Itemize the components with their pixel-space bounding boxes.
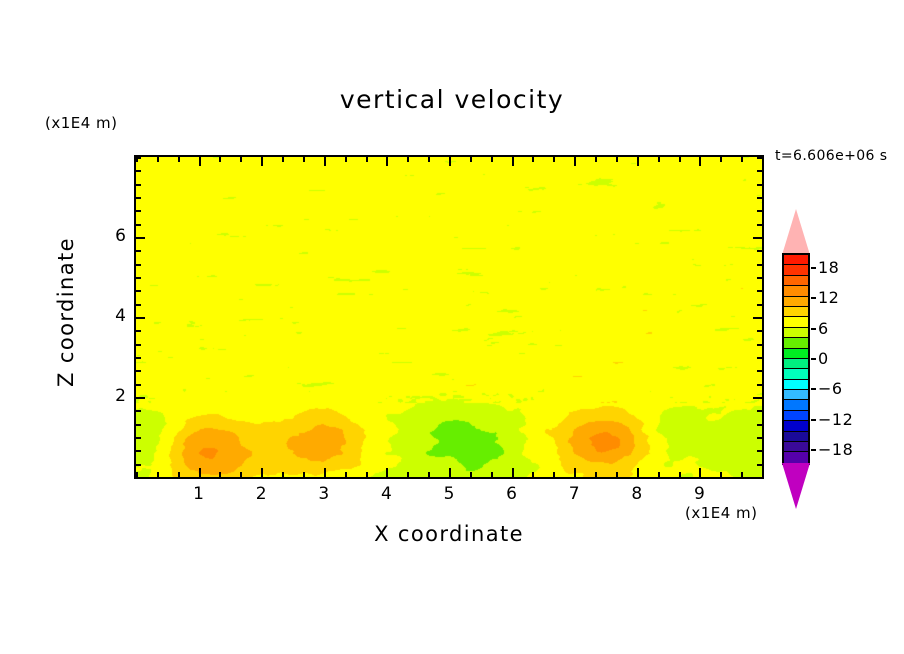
x-minor-tick-top [553, 157, 555, 162]
colorbar-band [784, 421, 808, 431]
x-major-tick-top [386, 157, 388, 166]
colorbar-band [784, 349, 808, 359]
colorbar-band [784, 255, 808, 265]
x-minor-tick [407, 472, 409, 477]
x-minor-tick [658, 472, 660, 477]
y-minor-tick-right [757, 384, 762, 386]
y-minor-tick [136, 424, 141, 426]
x-minor-tick-top [616, 157, 618, 162]
y-major-tick [136, 397, 145, 399]
y-minor-tick-right [757, 344, 762, 346]
x-minor-tick-top [762, 157, 764, 162]
y-minor-tick-right [757, 437, 762, 439]
y-minor-tick-right [757, 264, 762, 266]
colorbar[interactable] [782, 253, 810, 465]
x-minor-tick [428, 472, 430, 477]
colorbar-band [784, 338, 808, 348]
x-tick-label: 1 [179, 484, 219, 504]
colorbar-band [784, 265, 808, 275]
y-major-tick-right [753, 317, 762, 319]
x-major-tick [574, 468, 576, 477]
x-minor-tick-top [595, 157, 597, 162]
y-minor-tick-right [757, 357, 762, 359]
colorbar-band [784, 317, 808, 327]
colorbar-band [784, 328, 808, 338]
y-minor-tick [136, 357, 141, 359]
colorbar-band [784, 400, 808, 410]
page-title: vertical velocity [0, 85, 904, 114]
x-major-tick-top [512, 157, 514, 166]
x-minor-tick-top [303, 157, 305, 162]
x-major-tick-top [324, 157, 326, 166]
x-minor-tick-top [470, 157, 472, 162]
colorbar-tick-label: −12 [818, 410, 853, 429]
x-minor-tick-top [720, 157, 722, 162]
colorbar-band [784, 297, 808, 307]
y-minor-tick-right [757, 210, 762, 212]
x-tick-label: 6 [492, 484, 532, 504]
y-major-tick-right [753, 397, 762, 399]
y-tick-label: 6 [100, 226, 126, 246]
x-minor-tick [595, 472, 597, 477]
x-minor-tick [219, 472, 221, 477]
y-minor-tick [136, 277, 141, 279]
x-minor-tick-top [157, 157, 159, 162]
contour-plot-area[interactable] [134, 155, 764, 479]
x-minor-tick [553, 472, 555, 477]
y-minor-tick-right [757, 250, 762, 252]
x-tick-label: 7 [554, 484, 594, 504]
x-minor-tick [345, 472, 347, 477]
x-tick-label: 8 [617, 484, 657, 504]
colorbar-tick [811, 328, 816, 330]
x-minor-tick [616, 472, 618, 477]
x-minor-tick [157, 472, 159, 477]
x-tick-label: 3 [304, 484, 344, 504]
colorbar-tick-label: 18 [818, 258, 839, 277]
x-minor-tick [470, 472, 472, 477]
y-minor-tick [136, 344, 141, 346]
colorbar-band [784, 380, 808, 390]
y-minor-tick-right [757, 184, 762, 186]
x-tick-label: 5 [429, 484, 469, 504]
z-axis-title: Z coordinate [54, 222, 78, 402]
colorbar-tick-label: 0 [818, 349, 829, 368]
time-annotation: t=6.606e+06 s [775, 148, 887, 164]
x-minor-tick [282, 472, 284, 477]
z-axis-unit-label: (x1E4 m) [45, 114, 118, 132]
x-minor-tick-top [345, 157, 347, 162]
x-major-tick [449, 468, 451, 477]
x-minor-tick-top [219, 157, 221, 162]
colorbar-bottom-arrow-cap [782, 463, 810, 509]
x-minor-tick-top [658, 157, 660, 162]
x-minor-tick-top [282, 157, 284, 162]
x-tick-label: 2 [241, 484, 281, 504]
x-minor-tick [178, 472, 180, 477]
colorbar-band [784, 369, 808, 379]
x-minor-tick [720, 472, 722, 477]
y-minor-tick [136, 170, 141, 172]
x-minor-tick-top [679, 157, 681, 162]
y-minor-tick [136, 450, 141, 452]
colorbar-top-arrow-cap [782, 209, 810, 255]
y-major-tick-right [753, 237, 762, 239]
x-axis-title: X coordinate [134, 522, 764, 546]
vertical-velocity-heatmap [136, 157, 762, 477]
y-minor-tick-right [757, 464, 762, 466]
y-minor-tick [136, 224, 141, 226]
y-minor-tick-right [757, 370, 762, 372]
y-minor-tick [136, 210, 141, 212]
x-major-tick [699, 468, 701, 477]
x-minor-tick-top [178, 157, 180, 162]
colorbar-tick [811, 419, 816, 421]
y-minor-tick-right [757, 477, 762, 479]
colorbar-tick [811, 267, 816, 269]
x-minor-tick [532, 472, 534, 477]
x-major-tick [637, 468, 639, 477]
y-minor-tick [136, 197, 141, 199]
x-major-tick [199, 468, 201, 477]
colorbar-band [784, 307, 808, 317]
x-major-tick [324, 468, 326, 477]
y-minor-tick [136, 477, 141, 479]
y-minor-tick-right [757, 330, 762, 332]
y-major-tick [136, 237, 145, 239]
y-minor-tick-right [757, 450, 762, 452]
y-minor-tick [136, 384, 141, 386]
x-major-tick-top [449, 157, 451, 166]
x-minor-tick-top [741, 157, 743, 162]
y-minor-tick [136, 290, 141, 292]
x-major-tick-top [574, 157, 576, 166]
x-minor-tick [240, 472, 242, 477]
x-major-tick-top [699, 157, 701, 166]
y-minor-tick [136, 330, 141, 332]
y-minor-tick-right [757, 424, 762, 426]
x-minor-tick-top [366, 157, 368, 162]
x-minor-tick [741, 472, 743, 477]
colorbar-tick-label: −6 [818, 379, 843, 398]
colorbar-tick-label: 12 [818, 288, 839, 307]
y-minor-tick [136, 184, 141, 186]
x-tick-label: 4 [366, 484, 406, 504]
x-minor-tick-top [491, 157, 493, 162]
y-minor-tick [136, 437, 141, 439]
x-minor-tick [679, 472, 681, 477]
x-minor-tick-top [407, 157, 409, 162]
x-axis-unit-label: (x1E4 m) [685, 504, 758, 522]
y-minor-tick [136, 250, 141, 252]
y-minor-tick [136, 464, 141, 466]
y-minor-tick-right [757, 290, 762, 292]
colorbar-band [784, 432, 808, 442]
x-major-tick-top [637, 157, 639, 166]
x-minor-tick [491, 472, 493, 477]
y-minor-tick-right [757, 410, 762, 412]
y-minor-tick-right [757, 197, 762, 199]
y-tick-label: 2 [100, 386, 126, 406]
x-major-tick [386, 468, 388, 477]
y-minor-tick-right [757, 157, 762, 159]
y-minor-tick [136, 304, 141, 306]
x-major-tick [261, 468, 263, 477]
colorbar-band [784, 452, 808, 462]
colorbar-tick [811, 449, 816, 451]
x-minor-tick-top [428, 157, 430, 162]
colorbar-band [784, 442, 808, 452]
colorbar-tick-label: 6 [818, 319, 829, 338]
x-minor-tick-top [532, 157, 534, 162]
x-minor-tick [366, 472, 368, 477]
colorbar-band [784, 411, 808, 421]
colorbar-tick-label: −18 [818, 440, 853, 459]
y-minor-tick-right [757, 277, 762, 279]
x-major-tick-top [261, 157, 263, 166]
colorbar-band [784, 359, 808, 369]
colorbar-band [784, 286, 808, 296]
colorbar-tick [811, 388, 816, 390]
x-tick-label: 9 [679, 484, 719, 504]
x-minor-tick-top [240, 157, 242, 162]
y-tick-label: 4 [100, 306, 126, 326]
y-minor-tick-right [757, 304, 762, 306]
y-minor-tick-right [757, 170, 762, 172]
colorbar-tick [811, 358, 816, 360]
y-minor-tick [136, 157, 141, 159]
colorbar-band [784, 276, 808, 286]
y-minor-tick-right [757, 224, 762, 226]
colorbar-tick [811, 297, 816, 299]
y-minor-tick [136, 264, 141, 266]
y-minor-tick [136, 370, 141, 372]
x-minor-tick [303, 472, 305, 477]
x-minor-tick [762, 472, 764, 477]
x-major-tick [512, 468, 514, 477]
x-major-tick-top [199, 157, 201, 166]
y-major-tick [136, 317, 145, 319]
colorbar-band [784, 390, 808, 400]
y-minor-tick [136, 410, 141, 412]
